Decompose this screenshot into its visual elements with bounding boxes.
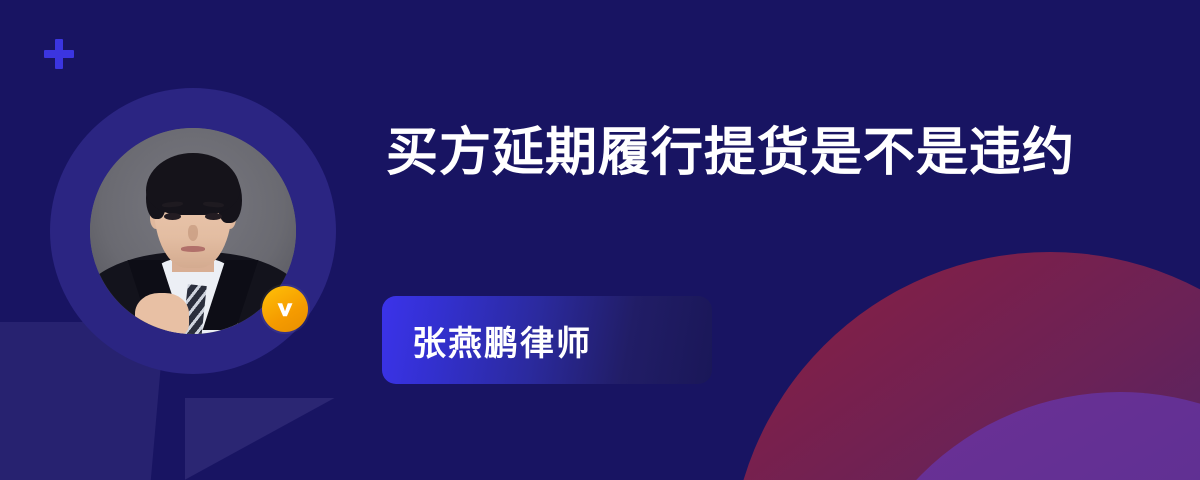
author-name-badge[interactable]: 张燕鹏律师	[382, 296, 712, 384]
avatar[interactable]	[50, 88, 336, 374]
decorative-left-triangle	[185, 398, 335, 480]
plus-icon-vertical-bar	[55, 39, 63, 69]
plus-icon	[44, 39, 74, 69]
author-name-label: 张燕鹏律师	[412, 316, 592, 365]
page-title: 买方延期履行提货是不是违约	[386, 118, 1086, 188]
verified-badge-icon	[262, 286, 308, 332]
portrait-mouth	[181, 246, 206, 251]
lawyer-article-banner: 买方延期履行提货是不是违约 张燕鹏律师	[0, 0, 1200, 480]
portrait-hand	[135, 293, 189, 334]
